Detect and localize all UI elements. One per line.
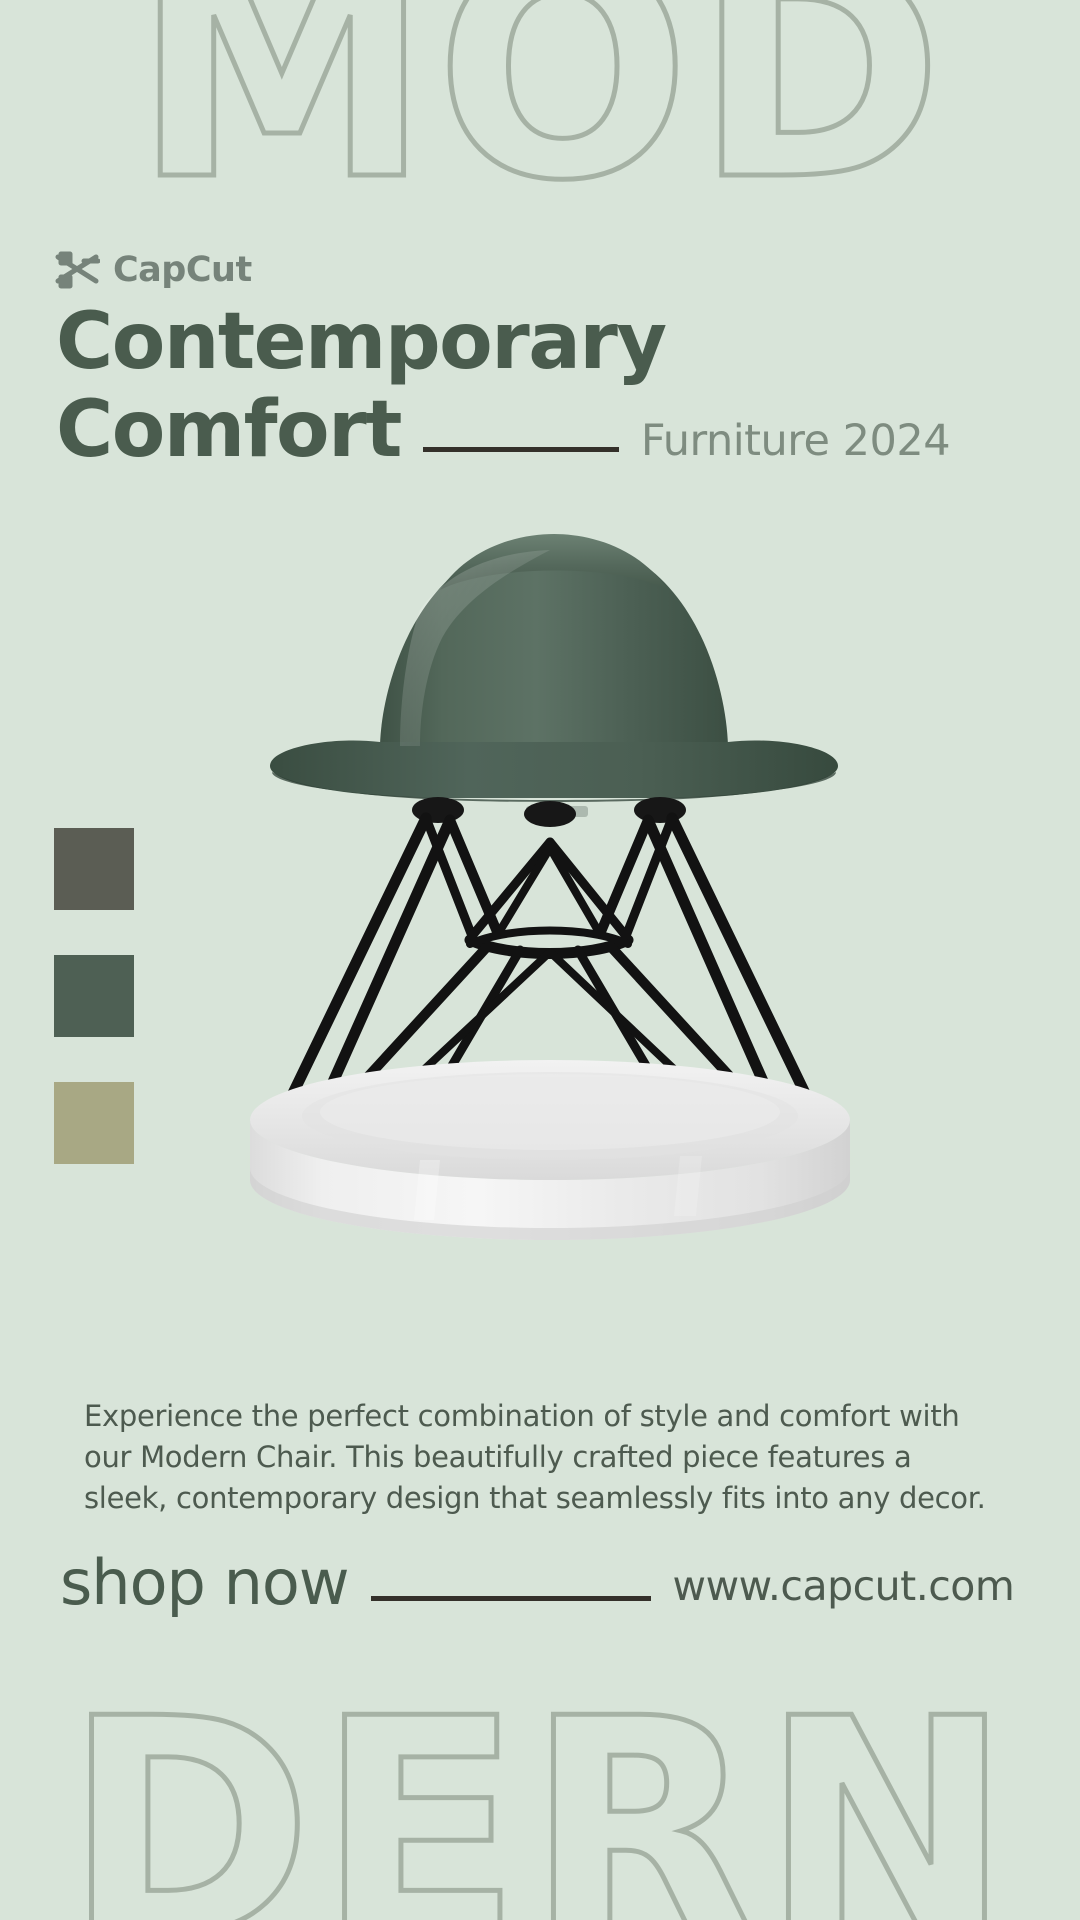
website-url[interactable]: www.capcut.com: [673, 1562, 1015, 1610]
cta-row: shop now www.capcut.com: [60, 1552, 1040, 1614]
cta-divider: [371, 1596, 651, 1601]
capcut-logo-icon: [54, 251, 100, 289]
brand-name: CapCut: [113, 250, 252, 290]
product-image: [120, 520, 960, 1300]
decorative-word-bottom: DERN: [0, 1680, 1080, 1920]
shop-now-button[interactable]: shop now: [60, 1552, 349, 1614]
poster-canvas: MOD CapCut Contemporary Comfort Furnitur…: [0, 0, 1080, 1920]
headline-block: Contemporary Comfort Furniture 2024: [56, 298, 1056, 474]
headline-line-2: Comfort: [56, 386, 401, 474]
collection-label: Furniture 2024: [641, 416, 950, 466]
headline-row-2: Comfort Furniture 2024: [56, 386, 1056, 474]
decorative-word-top: MOD: [0, 0, 1080, 222]
product-description: Experience the perfect combination of st…: [84, 1396, 994, 1519]
chair-illustration: [120, 520, 960, 1300]
brand-logo[interactable]: CapCut: [54, 250, 252, 290]
headline-divider: [423, 447, 619, 452]
headline-line-1: Contemporary: [56, 298, 1056, 386]
